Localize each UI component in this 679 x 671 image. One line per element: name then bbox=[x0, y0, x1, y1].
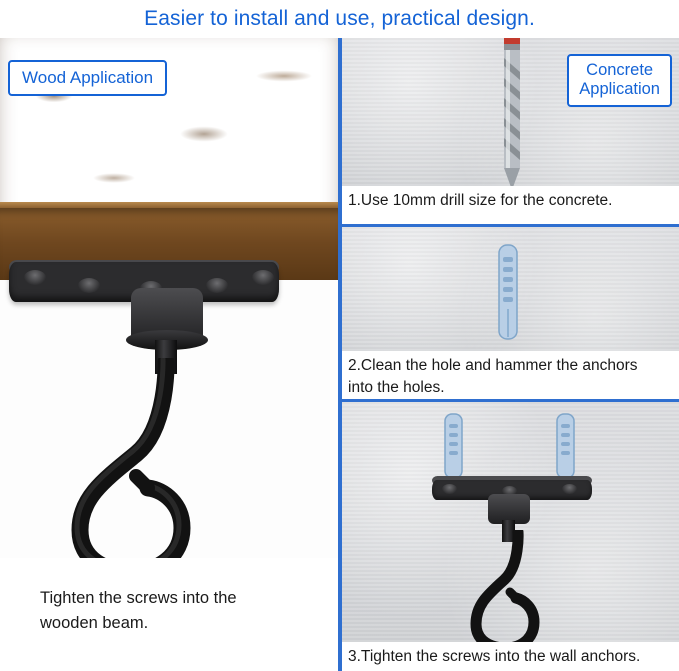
step-2-caption: 2.Clean the hole and hammer the anchors … bbox=[348, 355, 638, 400]
page-title: Easier to install and use, practical des… bbox=[144, 7, 535, 31]
left-caption: Tighten the screws into the wooden beam. bbox=[40, 586, 330, 636]
header-banner: Easier to install and use, practical des… bbox=[0, 0, 679, 38]
concrete-badge-line2: Application bbox=[579, 80, 660, 99]
panels-container: Tighten the screws into the wooden beam.… bbox=[0, 38, 679, 671]
screw-icon bbox=[562, 484, 577, 494]
concrete-badge-line1: Concrete bbox=[579, 61, 660, 80]
step-2-section: 2.Clean the hole and hammer the anchors … bbox=[342, 227, 679, 401]
step-3-caption: 3.Tighten the screws into the wall ancho… bbox=[348, 646, 640, 668]
drill-bit-icon bbox=[490, 38, 534, 186]
wood-application-panel: Tighten the screws into the wooden beam.… bbox=[0, 38, 338, 671]
screw-icon bbox=[24, 270, 46, 285]
step-2-caption-line2: into the holes. bbox=[348, 377, 638, 399]
wood-application-badge-label: Wood Application bbox=[22, 68, 153, 87]
wall-anchor-icon bbox=[550, 412, 582, 482]
step-3-section: 3.Tighten the screws into the wall ancho… bbox=[342, 402, 679, 671]
product-instruction-image: Easier to install and use, practical des… bbox=[0, 0, 679, 671]
step-2-image bbox=[342, 227, 679, 351]
left-caption-line1: Tighten the screws into the bbox=[40, 586, 330, 611]
concrete-application-badge: Concrete Application bbox=[567, 54, 672, 107]
concrete-application-panel: 1.Use 10mm drill size for the concrete. … bbox=[342, 38, 679, 671]
screw-icon bbox=[78, 278, 100, 293]
black-swing-hook-icon bbox=[40, 358, 270, 558]
screw-icon bbox=[442, 484, 457, 494]
left-caption-line2: wooden beam. bbox=[40, 611, 330, 636]
screw-icon bbox=[206, 278, 228, 293]
step-3-image bbox=[342, 402, 679, 642]
step-2-caption-line1: 2.Clean the hole and hammer the anchors bbox=[348, 355, 638, 377]
wall-anchor-icon bbox=[486, 243, 530, 343]
screw-icon bbox=[252, 270, 274, 285]
wood-application-badge: Wood Application bbox=[8, 60, 167, 96]
step-1-caption: 1.Use 10mm drill size for the concrete. bbox=[348, 190, 612, 212]
wood-application-photo bbox=[0, 38, 338, 558]
mounted-hook-icon bbox=[460, 530, 590, 642]
step-1-section: 1.Use 10mm drill size for the concrete. … bbox=[342, 38, 679, 226]
wall-anchor-icon bbox=[438, 412, 470, 482]
